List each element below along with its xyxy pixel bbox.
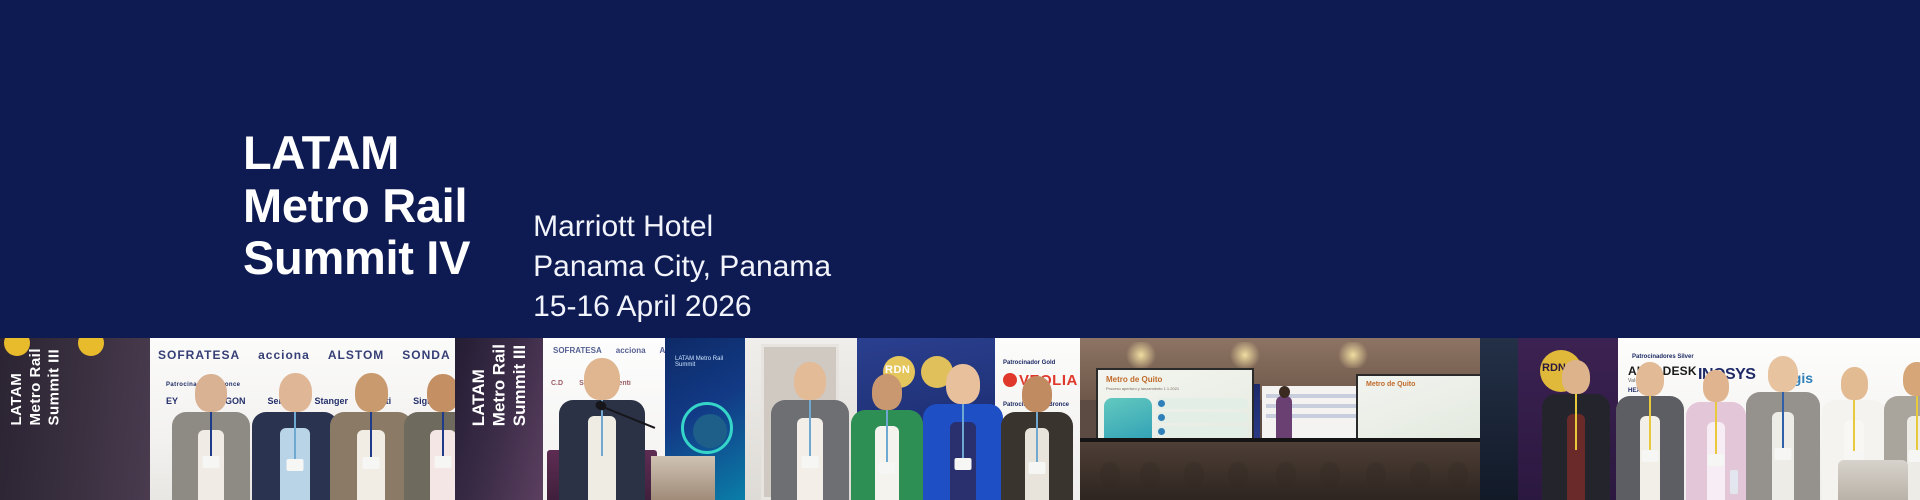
chandelier-icon	[1336, 342, 1370, 368]
photo-auditorium-session: LATAM Metro Rail Metro de Quito Proceso …	[1080, 338, 1480, 500]
rollup-banner: LATAM Metro Rail Summit III	[455, 338, 543, 500]
photo-group-rdn-backdrop: RDN Patrocinador Gold VEOLIA Patrocinado…	[745, 338, 1080, 500]
event-details: Marriott Hotel Panama City, Panama 15-16…	[533, 207, 831, 327]
photo-group-delegates-sponsor-wall: LATAM Metro Rail Summit III SOFRATESA ac…	[0, 338, 455, 500]
side-table	[1838, 460, 1908, 500]
person-figure	[1001, 376, 1073, 500]
slide-bullet	[1156, 398, 1248, 409]
rollup-banner-text: LATAM Metro Rail Summit III	[8, 348, 64, 426]
person-figure	[172, 374, 250, 500]
sponsor-logo-alstom: ALSTOM	[328, 348, 384, 362]
rollup-banner: LATAM Metro Rail Summit III	[0, 338, 150, 500]
slide-bullet	[1156, 412, 1248, 423]
slide-title: Metro de Quito	[1106, 375, 1162, 384]
title-line-metro-rail: Metro Rail	[243, 180, 470, 233]
screen-title: LATAM Metro Rail Summit	[675, 356, 745, 368]
person-figure	[1542, 360, 1610, 500]
slide-bullet	[1156, 426, 1248, 437]
person-figure-presenter	[1276, 396, 1292, 438]
sponsor-tier-silver-label: Patrocinadores Silver	[1632, 354, 1694, 360]
chandelier-icon	[1228, 342, 1262, 368]
person-figure	[771, 362, 849, 500]
photo-strip: LATAM Metro Rail Summit III SOFRATESA ac…	[0, 338, 1920, 500]
rollup-banner-text: LATAM Metro Rail Summit III	[469, 344, 530, 426]
sponsor-logo-sofratesa: SOFRATESA	[553, 346, 602, 355]
sponsor-logo-acciona: acciona	[258, 348, 310, 362]
water-bottle	[1730, 470, 1738, 494]
person-figure	[252, 373, 338, 500]
podium-secondary	[651, 456, 715, 500]
venue-name: Marriott Hotel	[533, 207, 831, 247]
slide-title: Metro de Quito	[1366, 381, 1415, 388]
person-figure	[330, 373, 412, 500]
person-figure-speaker	[559, 358, 645, 500]
chandelier-icon	[1124, 342, 1158, 368]
gold-circle-icon	[78, 338, 104, 356]
sponsor-logo-row-primary: SOFRATESA acciona ALSTOM SONDA AUTODESK	[158, 348, 455, 362]
hero-content: LATAM Metro Rail Summit IV Marriott Hote…	[243, 127, 831, 327]
event-dates: 15-16 April 2026	[533, 287, 831, 327]
person-figure	[404, 374, 455, 500]
slide-subtitle: Proceso aperturo y lanzamiento 1.1.2021	[1106, 386, 1179, 391]
venue-location: Panama City, Panama	[533, 247, 831, 287]
audience	[1080, 442, 1480, 500]
person-figure	[923, 364, 1003, 500]
photo-speaker-podium: LATAM Metro Rail Summit III SOFRATESA ac…	[455, 338, 745, 500]
photo-group-six-delegates: RDN Patrocinadores Silver AUTODESK Value…	[1480, 338, 1920, 500]
title-line-latam: LATAM	[243, 127, 470, 180]
title-line-summit: Summit IV	[243, 232, 470, 285]
page-title: LATAM Metro Rail Summit IV	[243, 127, 470, 285]
person-figure	[1746, 356, 1820, 500]
sponsor-logo-sonda: SONDA	[402, 348, 450, 362]
person-figure	[851, 374, 923, 500]
hero-section: LATAM Metro Rail Summit IV Marriott Hote…	[0, 0, 1920, 338]
person-figure	[1616, 362, 1684, 500]
screen-graphic-icon	[681, 402, 733, 454]
sponsor-logo-acciona: acciona	[616, 346, 646, 355]
room-wall	[1480, 338, 1520, 500]
sponsor-logo-sofratesa: SOFRATESA	[158, 348, 240, 362]
conference-banner: LATAM Metro Rail Summit IV Marriott Hote…	[0, 0, 1920, 500]
sponsor-tier-gold-label: Patrocinador Gold	[1003, 360, 1055, 366]
